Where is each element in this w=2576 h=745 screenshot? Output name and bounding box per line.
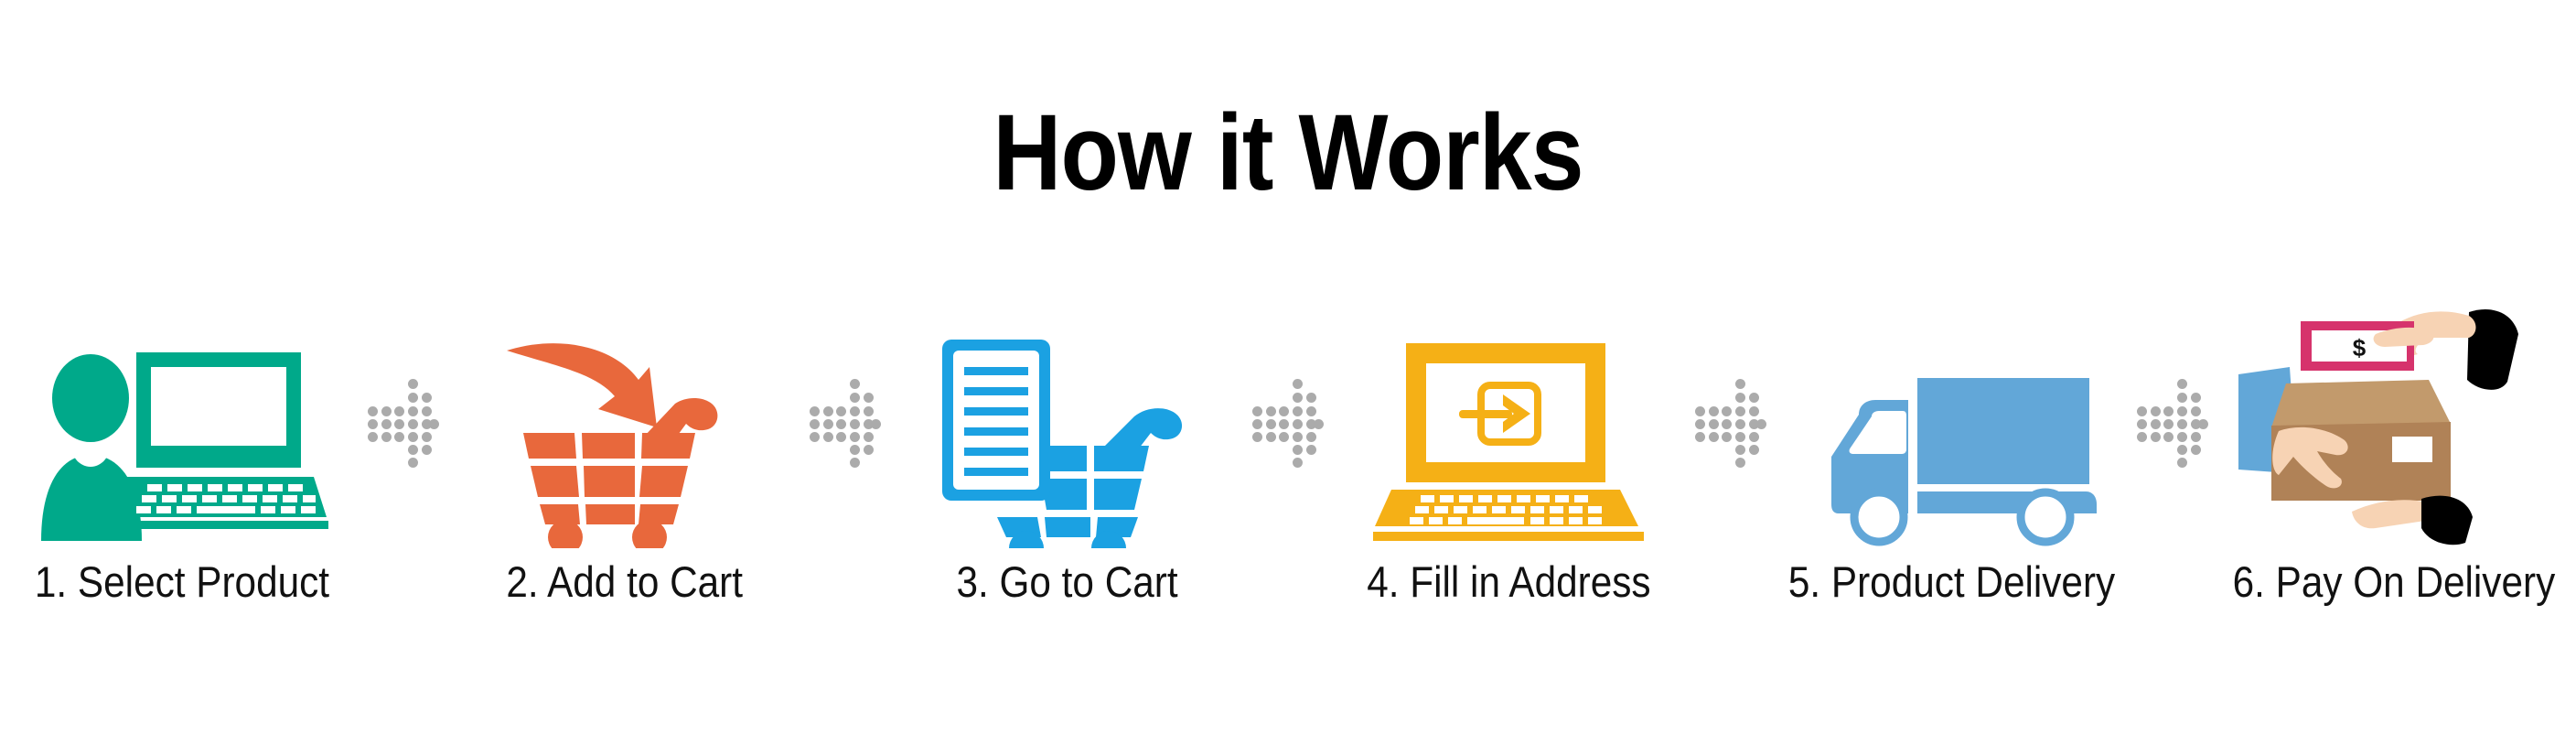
delivery-truck-icon	[1806, 365, 2098, 548]
banknote-dollar-sign: $	[2353, 334, 2367, 362]
dotted-arrow-right-icon	[2137, 379, 2208, 458]
box-top	[2271, 380, 2451, 427]
step-2-label: 2. Add to Cart	[506, 559, 743, 604]
steps-row: 1. Select Product	[0, 302, 2576, 604]
step-3-go-to-cart[interactable]: 3. Go to Cart	[885, 302, 1249, 604]
dotted-arrow-right-icon	[810, 379, 881, 458]
laptop-with-login-arrow-icon	[1368, 338, 1651, 548]
hands-exchanging-box-and-money-icon: $	[2238, 303, 2549, 548]
step-3-label: 3. Go to Cart	[956, 559, 1177, 604]
step-5-label: 5. Product Delivery	[1788, 559, 2115, 604]
cuff-top	[2467, 309, 2518, 390]
step-2-icon-box	[459, 319, 789, 548]
step-4-fill-in-address[interactable]: 4. Fill in Address	[1327, 302, 1691, 604]
step-1-select-product[interactable]: 1. Select Product	[0, 302, 364, 604]
page-title: How it Works	[155, 99, 2421, 207]
separator-arrow-1	[364, 304, 443, 533]
box-label	[2392, 437, 2432, 462]
step-4-label: 4. Fill in Address	[1368, 559, 1651, 604]
how-it-works-infographic: How it Works	[0, 0, 2576, 745]
step-6-label: 6. Pay On Delivery	[2233, 559, 2556, 604]
hand-bottom-right	[2352, 500, 2432, 528]
cuff-bottom	[2421, 495, 2473, 545]
dotted-arrow-right-icon	[1252, 379, 1324, 458]
step-6-icon-box: $	[2229, 302, 2559, 548]
step-4-icon-box	[1345, 319, 1674, 548]
step-3-icon-box	[902, 319, 1231, 548]
step-5-icon-box	[1787, 319, 2117, 548]
separator-arrow-5	[2133, 304, 2212, 533]
step-1-label: 1. Select Product	[35, 559, 329, 604]
person-with-laptop-icon	[36, 338, 328, 548]
dotted-arrow-right-icon	[368, 379, 439, 458]
dotted-arrow-right-icon	[1695, 379, 1766, 458]
separator-arrow-2	[806, 304, 885, 533]
step-5-product-delivery[interactable]: 5. Product Delivery	[1770, 302, 2134, 604]
step-6-pay-on-delivery[interactable]: $	[2212, 302, 2576, 604]
shopping-cart-with-arrow-icon	[487, 329, 761, 548]
separator-arrow-3	[1249, 304, 1327, 533]
document-with-cart-icon	[929, 329, 1204, 548]
step-2-add-to-cart[interactable]: 2. Add to Cart	[443, 302, 807, 604]
separator-arrow-4	[1691, 304, 1770, 533]
step-1-icon-box	[17, 319, 347, 548]
